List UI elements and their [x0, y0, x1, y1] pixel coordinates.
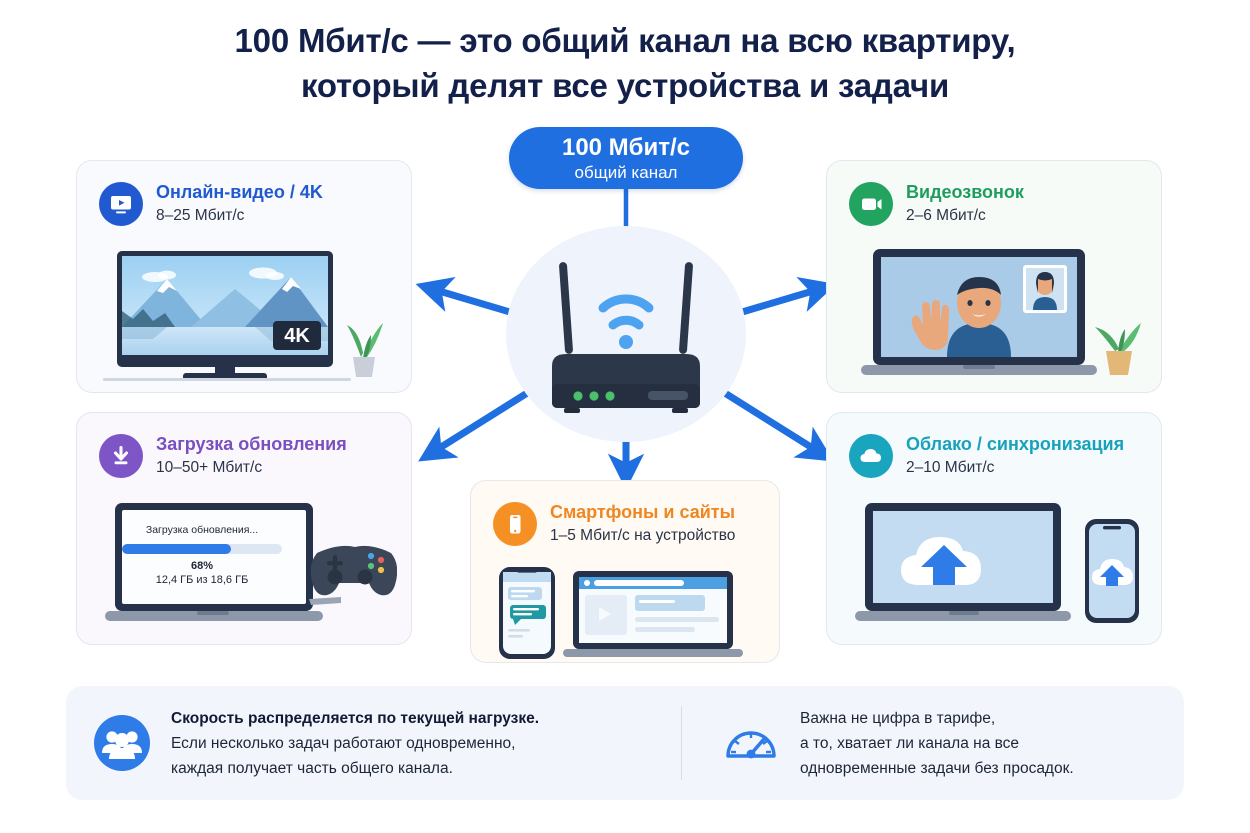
video-call-illustration — [847, 247, 1147, 388]
cloud-sync-illustration — [845, 501, 1147, 640]
card-title: Облако / синхронизация — [906, 433, 1124, 455]
wifi-signal-icon — [603, 299, 649, 325]
card-title: Загрузка обновления — [156, 433, 347, 455]
progress-bar-track — [122, 544, 282, 554]
gamepad-decor — [309, 546, 397, 605]
card-speed: 1–5 Мбит/с на устройство — [550, 526, 735, 546]
title-line-2: который делят все устройства и задачи — [0, 63, 1250, 108]
card-cloud-sync[interactable]: Облако / синхронизация 2–10 Мбит/с — [826, 412, 1162, 645]
card-video-call[interactable]: Видеозвонок 2–6 Мбит/с — [826, 160, 1162, 393]
progress-percent: 68% — [122, 560, 282, 572]
hub-badge-caption: общий канал — [575, 162, 678, 183]
plant-decor — [347, 323, 383, 377]
progress-size: 12,4 ГБ из 18,6 ГБ — [122, 574, 282, 586]
wifi-dot-icon — [619, 335, 633, 349]
download-progress-panel: Загрузка обновления... 68% 12,4 ГБ из 18… — [122, 523, 282, 586]
card-speed: 2–6 Мбит/с — [906, 206, 1024, 226]
cloud-icon — [849, 434, 893, 478]
progress-label: Загрузка обновления... — [122, 523, 282, 537]
laptop-browser-device — [563, 571, 743, 657]
footer-left-line-2: Если несколько задач работают одновремен… — [171, 731, 539, 756]
page-title: 100 Мбит/с — это общий канал на всю квар… — [0, 18, 1250, 108]
footer-left-block: Скорость распределяется по текущей нагру… — [66, 706, 681, 781]
smartphone-icon — [493, 502, 537, 546]
plant-decor — [1095, 323, 1141, 375]
phone-chat-device — [499, 567, 555, 659]
footer-left-line-3: каждая получает часть общего канала. — [171, 756, 539, 781]
led-indicator — [573, 391, 582, 400]
infographic-canvas: 100 Мбит/с — это общий канал на всю квар… — [0, 0, 1250, 833]
card-header: Облако / синхронизация 2–10 Мбит/с — [849, 433, 1124, 478]
led-indicator — [605, 391, 614, 400]
card-header: Онлайн-видео / 4K 8–25 Мбит/с — [99, 181, 323, 226]
footer-right-line-3: одновременные задачи без просадок. — [800, 756, 1074, 781]
progress-bar-fill — [122, 544, 231, 554]
footer-right-line-2: а то, хватает ли канала на все — [800, 731, 1074, 756]
card-download-update[interactable]: Загрузка обновления 10–50+ Мбит/с — [76, 412, 412, 645]
speedometer-icon — [720, 712, 782, 774]
card-online-video[interactable]: Онлайн-видео / 4K 8–25 Мбит/с — [76, 160, 412, 393]
hub-badge-value: 100 Мбит/с — [562, 134, 690, 161]
footer-panel: Скорость распределяется по текущей нагру… — [66, 686, 1184, 800]
svg-text:4K: 4K — [284, 325, 310, 347]
card-phones-sites[interactable]: Смартфоны и сайты 1–5 Мбит/с на устройст… — [470, 480, 780, 663]
title-line-1: 100 Мбит/с — это общий канал на всю квар… — [0, 18, 1250, 63]
hub-speed-badge: 100 Мбит/с общий канал — [509, 127, 743, 189]
footer-right-block: Важна не цифра в тарифе, а то, хватает л… — [682, 706, 1162, 781]
card-header: Видеозвонок 2–6 Мбит/с — [849, 181, 1024, 226]
pip-thumbnail — [1023, 265, 1067, 313]
card-title: Смартфоны и сайты — [550, 501, 735, 523]
video-player-icon — [99, 182, 143, 226]
tv-illustration: 4K — [95, 249, 395, 386]
footer-left-line-1: Скорость распределяется по текущей нагру… — [171, 706, 539, 731]
footer-left-text: Скорость распределяется по текущей нагру… — [171, 706, 539, 781]
card-speed: 2–10 Мбит/с — [906, 458, 1124, 478]
footer-right-line-1: Важна не цифра в тарифе, — [800, 706, 1074, 731]
card-header: Смартфоны и сайты 1–5 Мбит/с на устройст… — [493, 501, 735, 546]
card-header: Загрузка обновления 10–50+ Мбит/с — [99, 433, 347, 478]
card-title: Видеозвонок — [906, 181, 1024, 203]
card-speed: 10–50+ Мбит/с — [156, 458, 347, 478]
footer-right-text: Важна не цифра в тарифе, а то, хватает л… — [800, 706, 1074, 781]
video-camera-icon — [849, 182, 893, 226]
led-indicator — [589, 391, 598, 400]
phone-device — [1085, 519, 1139, 623]
card-title: Онлайн-видео / 4K — [156, 181, 323, 203]
phones-sites-illustration — [493, 565, 763, 666]
router-illustration — [506, 226, 746, 442]
card-speed: 8–25 Мбит/с — [156, 206, 323, 226]
download-arrow-icon — [99, 434, 143, 478]
people-group-icon — [91, 712, 153, 774]
